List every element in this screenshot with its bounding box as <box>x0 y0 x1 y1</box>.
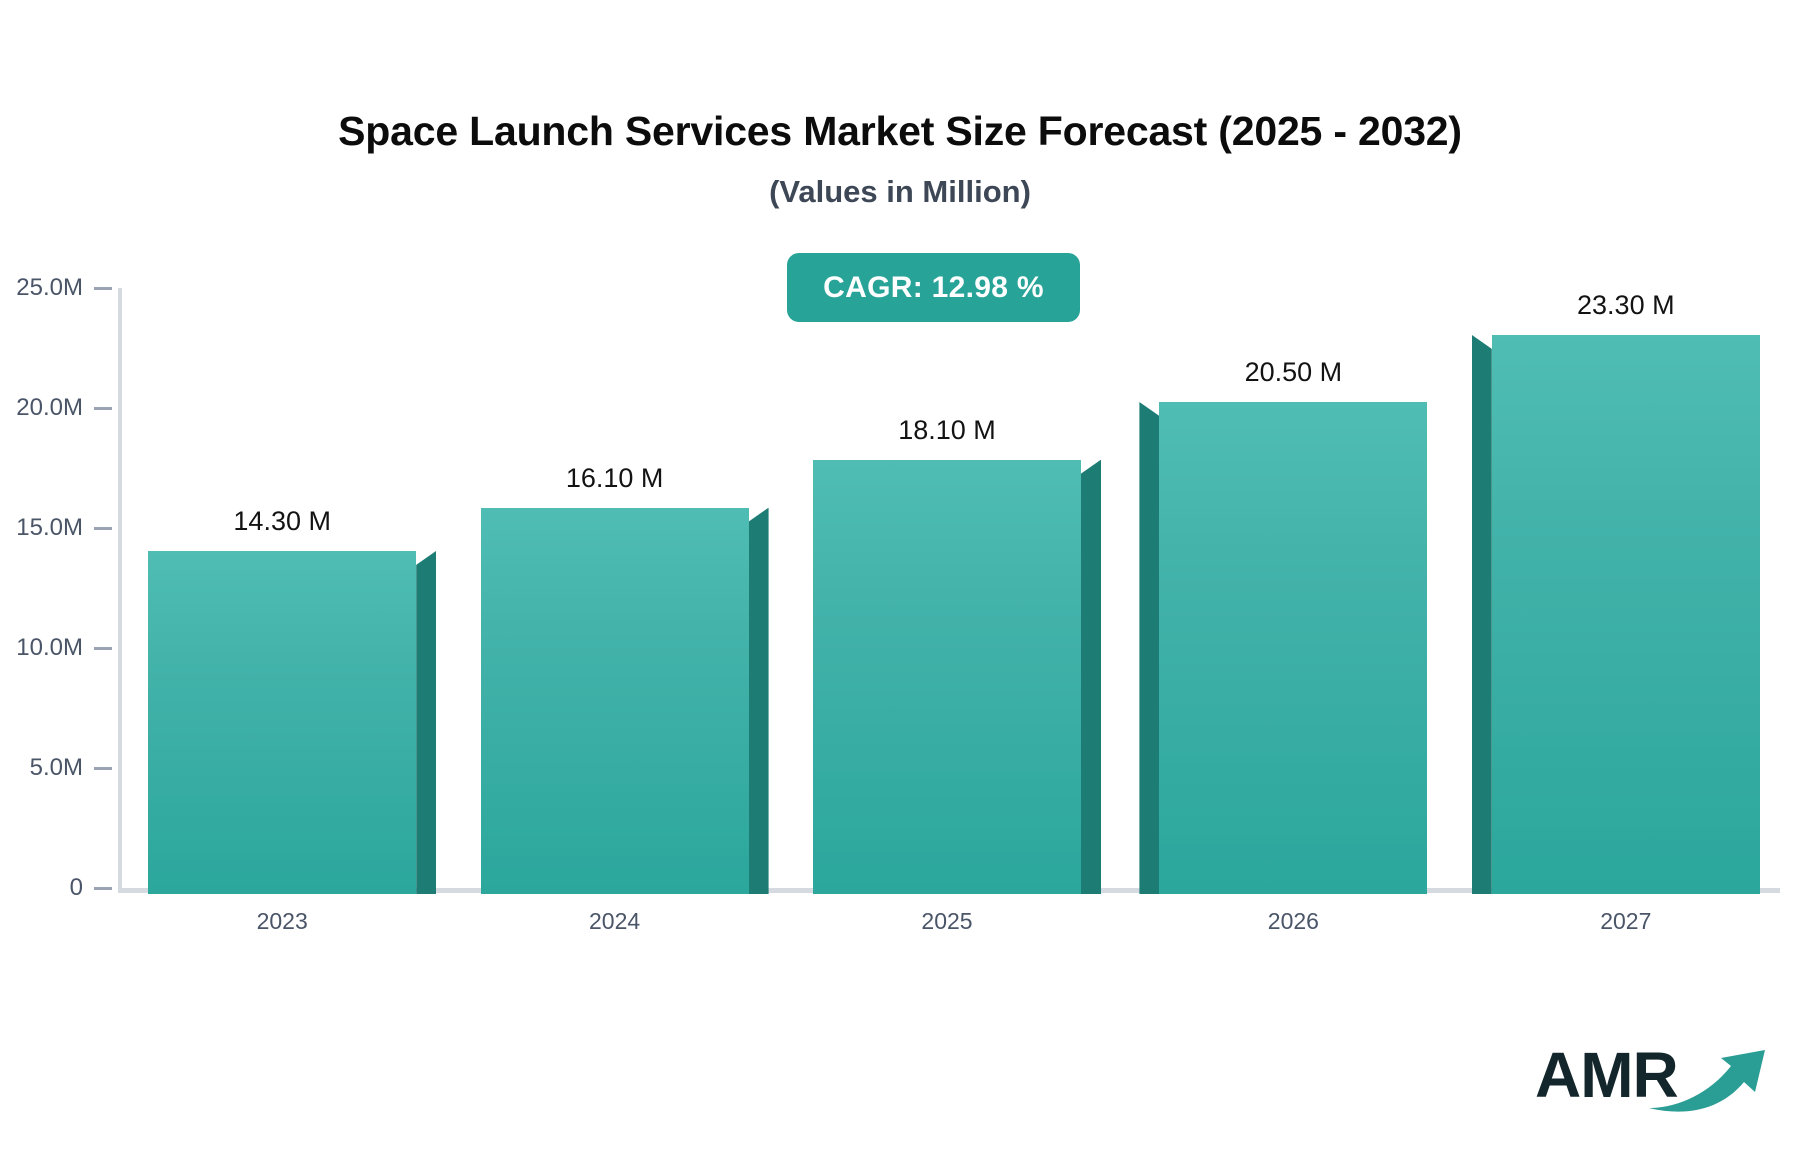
y-axis-tick-mark <box>94 287 112 290</box>
x-axis-tick-label: 2024 <box>481 908 749 935</box>
y-axis-tick-label: 25.0M <box>0 274 83 302</box>
y-axis-tick-label: 20.0M <box>0 394 83 422</box>
bar-side-face <box>1081 460 1101 894</box>
bar-side-face <box>1139 402 1159 894</box>
bar-front-face <box>1492 335 1760 894</box>
y-axis-tick-label: 0 <box>0 874 83 902</box>
x-axis-tick-label: 2027 <box>1492 908 1760 935</box>
chart-subtitle: (Values in Million) <box>0 174 1800 210</box>
x-axis-tick-label: 2025 <box>813 908 1081 935</box>
bar-front-face <box>148 551 416 894</box>
bar: 20.50 M <box>1159 402 1427 894</box>
bar: 23.30 M <box>1492 335 1760 894</box>
bar-value-label: 16.10 M <box>481 463 749 494</box>
bar: 14.30 M <box>148 551 416 894</box>
bar: 18.10 M <box>813 460 1081 894</box>
bar-value-label: 14.30 M <box>148 506 416 537</box>
plot-area: 14.30 M16.10 M18.10 M20.50 M23.30 M <box>118 286 1780 894</box>
amr-logo: AMR <box>1535 1040 1775 1120</box>
bar-front-face <box>481 508 749 894</box>
y-axis-tick-mark <box>94 647 112 650</box>
growth-arrow-icon <box>1647 1046 1771 1114</box>
y-axis-tick: 25.0M <box>0 278 112 298</box>
y-axis-tick-mark <box>94 527 112 530</box>
y-axis-tick-label: 15.0M <box>0 514 83 542</box>
y-axis-tick: 15.0M <box>0 518 112 538</box>
bar-front-face <box>813 460 1081 894</box>
y-axis-tick: 5.0M <box>0 758 112 778</box>
x-axis-tick-label: 2026 <box>1159 908 1427 935</box>
bar: 16.10 M <box>481 508 749 894</box>
bar-side-face <box>749 508 769 894</box>
chart-title: Space Launch Services Market Size Foreca… <box>0 108 1800 155</box>
y-axis-tick: 0 <box>0 878 112 898</box>
y-axis-tick-mark <box>94 407 112 410</box>
bar-side-face <box>1472 335 1492 894</box>
x-axis-tick-label: 2023 <box>148 908 416 935</box>
bar-value-label: 20.50 M <box>1159 357 1427 388</box>
y-axis-tick-label: 10.0M <box>0 634 83 662</box>
bar-value-label: 23.30 M <box>1492 290 1760 321</box>
y-axis-tick-label: 5.0M <box>0 754 83 782</box>
bar-value-label: 18.10 M <box>813 415 1081 446</box>
chart-card: Space Launch Services Market Size Foreca… <box>0 0 1800 1156</box>
y-axis-tick-mark <box>94 767 112 770</box>
y-axis-tick: 20.0M <box>0 398 112 418</box>
bar-front-face <box>1159 402 1427 894</box>
y-axis-tick: 10.0M <box>0 638 112 658</box>
bar-side-face <box>416 551 436 894</box>
y-axis-tick-mark <box>94 887 112 890</box>
